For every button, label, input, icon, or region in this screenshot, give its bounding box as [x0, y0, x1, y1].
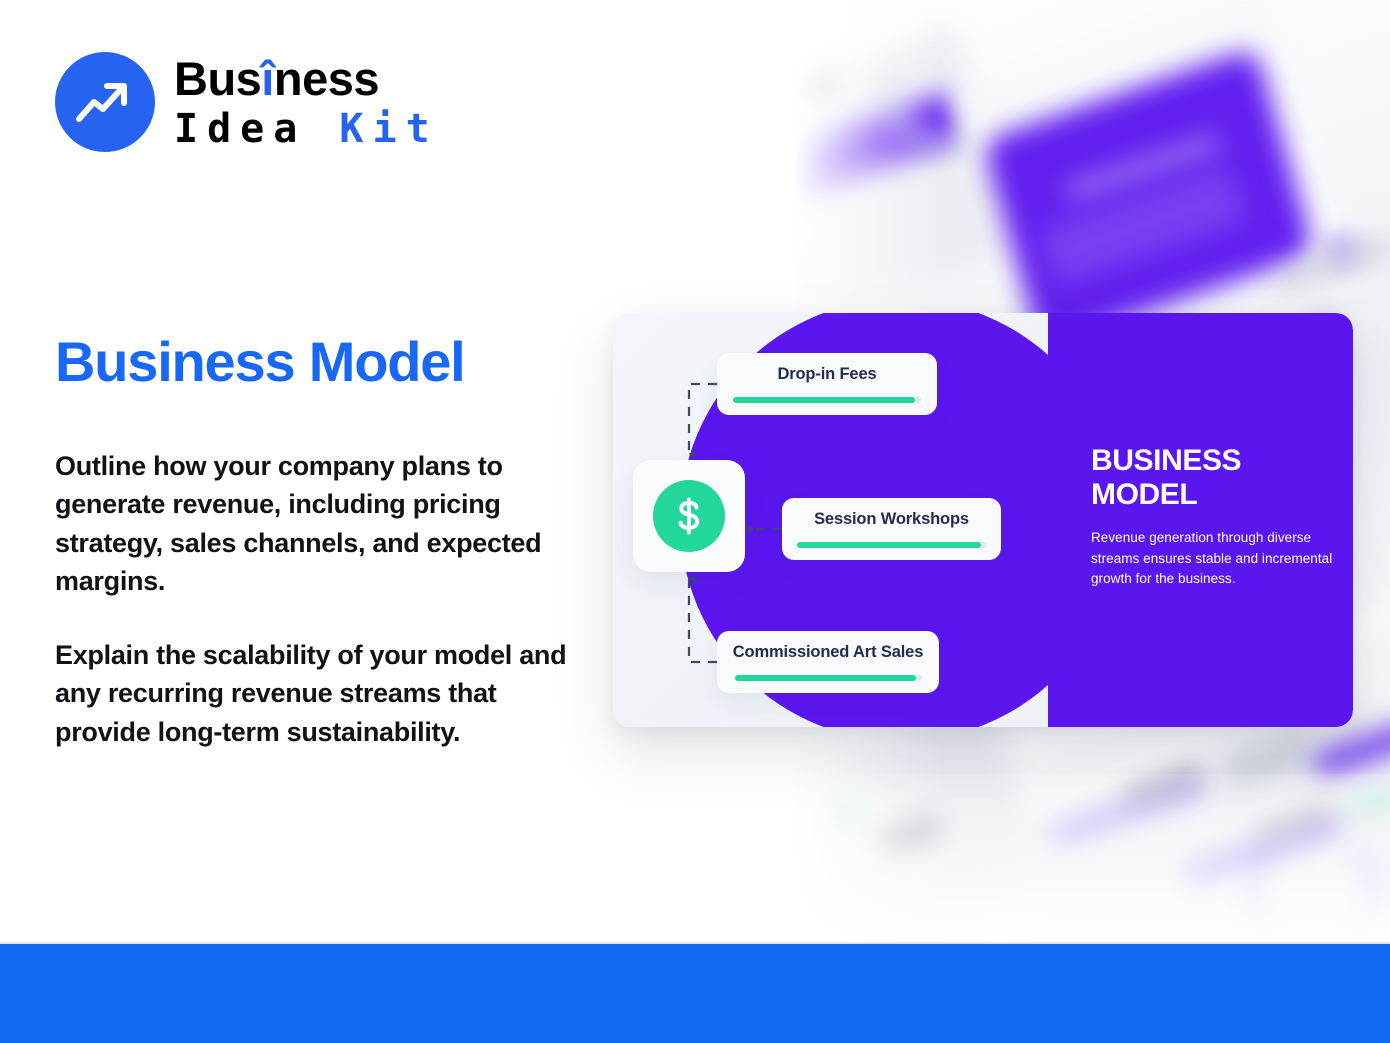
trending-up-chart-icon [55, 52, 155, 152]
brand-name-line-2: Idea Kit [174, 109, 439, 149]
brand-name-suffix: ness [274, 52, 379, 105]
brand-logo: Busîness Idea Kit [55, 52, 439, 152]
brand-name-idea: Idea [174, 106, 306, 152]
revenue-center-node[interactable] [633, 460, 745, 572]
brand-name-accent-i: î [261, 52, 274, 105]
revenue-stream-card[interactable]: Session Workshops [782, 498, 1001, 560]
revenue-progress-fill [797, 542, 981, 549]
revenue-stream-label: Commissioned Art Sales [733, 643, 923, 662]
revenue-progress-fill [733, 397, 915, 404]
purple-panel-content: BUSINESS MODEL Revenue generation throug… [1091, 444, 1349, 590]
brand-name-kit: Kit [339, 106, 438, 152]
body-paragraph-1: Outline how your company plans to genera… [55, 447, 585, 600]
brand-wordmark: Busîness Idea Kit [174, 55, 439, 149]
footer-bar [0, 944, 1390, 1043]
revenue-progress-fill [735, 675, 916, 682]
dollar-sign-icon [653, 480, 725, 552]
revenue-stream-card[interactable]: Commissioned Art Sales [717, 631, 939, 693]
business-model-diagram-card: BUSINESS MODEL Revenue generation throug… [613, 313, 1353, 727]
revenue-progress-track [735, 675, 922, 682]
body-paragraph-2: Explain the scalability of your model an… [55, 636, 585, 751]
revenue-stream-card[interactable]: Drop-in Fees [717, 353, 937, 415]
revenue-progress-track [797, 542, 987, 549]
page-title: Business Model [55, 333, 465, 392]
brand-name-line-1: Busîness [174, 55, 439, 102]
revenue-stream-label: Drop-in Fees [777, 365, 876, 384]
slide-root: Busîness Idea Kit Business Model Outline… [0, 0, 1390, 1043]
revenue-stream-label: Session Workshops [814, 510, 969, 529]
purple-panel-description: Revenue generation through diverse strea… [1091, 528, 1335, 590]
background-bottom-fade [793, 774, 1390, 944]
revenue-progress-track [733, 397, 921, 404]
purple-panel-title: BUSINESS MODEL [1091, 444, 1349, 511]
brand-name-prefix: Bus [174, 52, 261, 105]
